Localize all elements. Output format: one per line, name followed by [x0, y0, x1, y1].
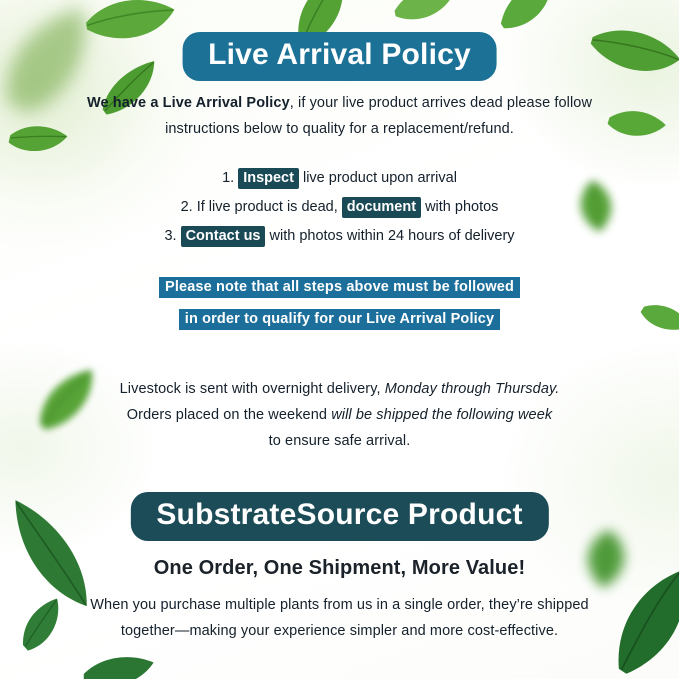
step-highlight-contact-us: Contact us: [181, 226, 266, 247]
infographic-content: Live Arrival Policy We have a Live Arriv…: [0, 0, 679, 679]
intro-rest-line1: , if your live product arrives dead plea…: [290, 95, 592, 111]
live-arrival-policy-infographic: Live Arrival Policy We have a Live Arriv…: [0, 0, 679, 679]
step-highlight-document: document: [342, 197, 421, 218]
step-number: 1.: [222, 170, 234, 186]
intro-paragraph: We have a Live Arrival Policy, if your l…: [0, 90, 679, 142]
intro-bold-lead: We have a Live Arrival Policy: [87, 95, 290, 111]
note-line-1: Please note that all steps above must be…: [159, 277, 520, 298]
value-heading: One Order, One Shipment, More Value!: [0, 557, 679, 580]
policy-note-block: Please note that all steps above must be…: [0, 274, 679, 332]
list-item: 2. If live product is dead, document wit…: [0, 193, 679, 222]
step-text-after: with photos: [421, 199, 498, 215]
closing-line2: together—making your experience simpler …: [121, 623, 558, 639]
step-text-after: live product upon arrival: [299, 170, 457, 186]
note-line-wrapper: in order to qualify for our Live Arrival…: [0, 306, 679, 332]
list-item: 1. Inspect live product upon arrival: [0, 164, 679, 193]
shipping-line3: to ensure safe arrival.: [269, 433, 411, 449]
substratesource-product-banner: SubstrateSource Product: [130, 492, 548, 541]
step-number: 3.: [164, 228, 176, 244]
note-line-2: in order to qualify for our Live Arrival…: [179, 309, 500, 330]
closing-line1: When you purchase multiple plants from u…: [90, 597, 588, 613]
step-number: 2.: [181, 199, 193, 215]
shipping-line2-plain: Orders placed on the weekend: [127, 407, 331, 423]
list-item: 3. Contact us with photos within 24 hour…: [0, 222, 679, 251]
shipping-paragraph: Livestock is sent with overnight deliver…: [0, 376, 679, 454]
step-text-after: with photos within 24 hours of delivery: [265, 228, 514, 244]
note-line-wrapper: Please note that all steps above must be…: [0, 274, 679, 300]
shipping-line1-italic: Monday through Thursday.: [385, 381, 560, 397]
shipping-line2-italic: will be shipped the following week: [331, 407, 552, 423]
live-arrival-policy-banner: Live Arrival Policy: [182, 32, 497, 81]
intro-line2: instructions below to quality for a repl…: [165, 121, 514, 137]
step-text-before: If live product is dead,: [197, 199, 342, 215]
shipping-line1-plain: Livestock is sent with overnight deliver…: [120, 381, 385, 397]
closing-paragraph: When you purchase multiple plants from u…: [0, 592, 679, 644]
policy-steps-list: 1. Inspect live product upon arrival 2. …: [0, 164, 679, 251]
step-highlight-inspect: Inspect: [238, 168, 299, 189]
